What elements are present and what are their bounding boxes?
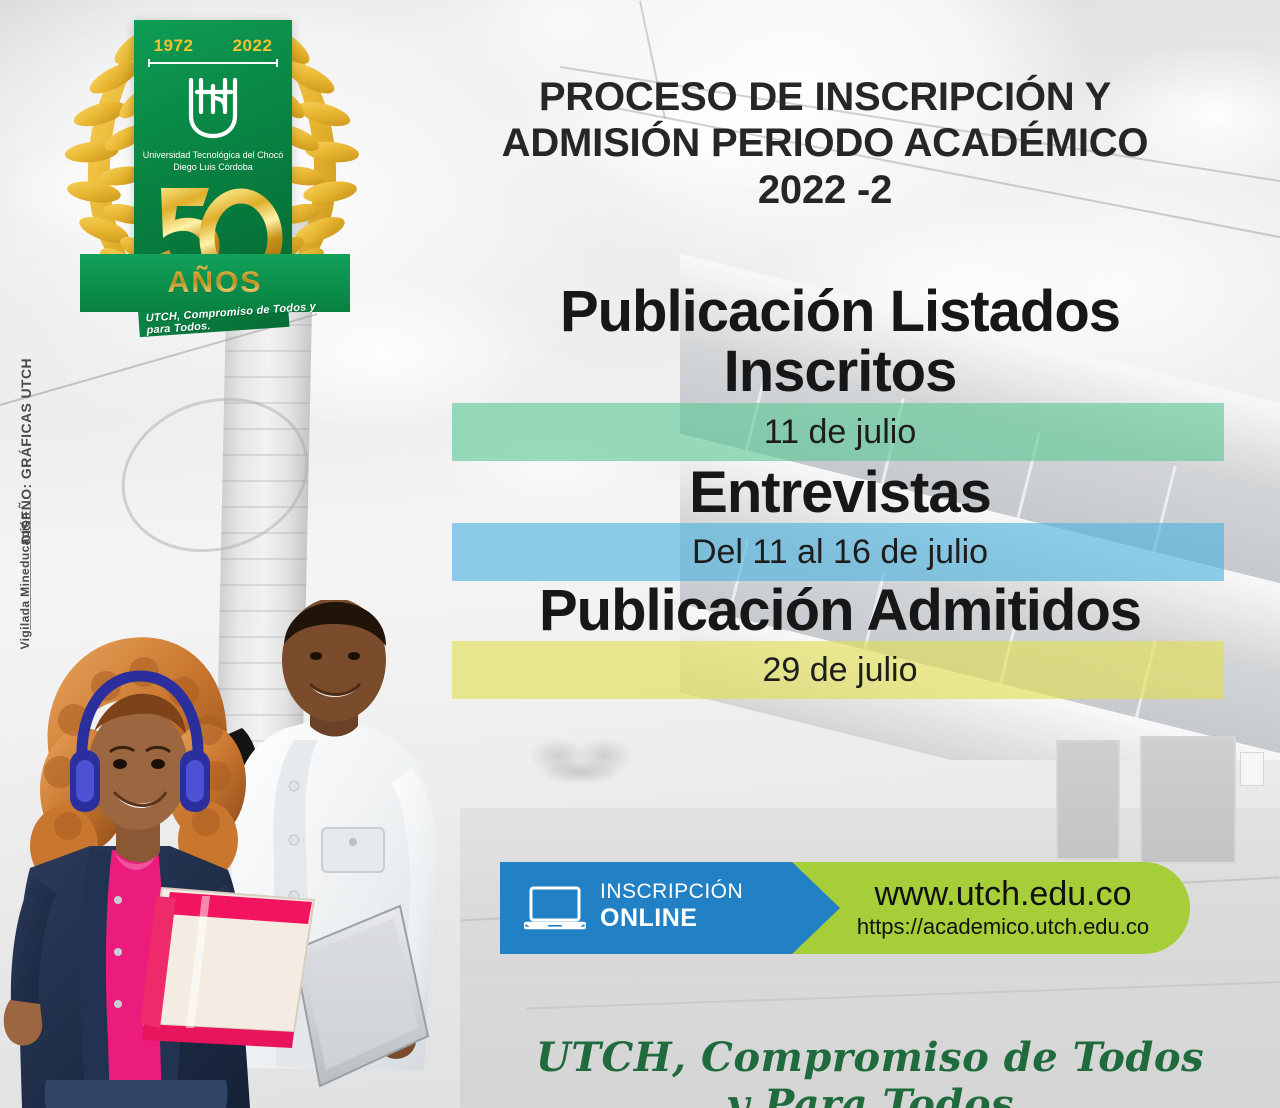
schedule-item-title: Publicación Listados [440, 282, 1240, 342]
schedule-item-title: Publicación Admitidos [440, 581, 1240, 641]
logo-university-line2: Diego Luis Córdoba [138, 162, 288, 174]
schedule-item-date: 29 de julio [440, 641, 1240, 699]
headline-line-1: PROCESO DE INSCRIPCIÓN Y [400, 74, 1250, 120]
schedule-item-date: Del 11 al 16 de julio [440, 523, 1240, 581]
schedule-item-date: 11 de julio [440, 403, 1240, 461]
headline-line-3: 2022 -2 [400, 167, 1250, 213]
banner-label-line1: INSCRIPCIÓN [600, 880, 780, 904]
banner-url-group[interactable]: www.utch.edu.co https://academico.utch.e… [830, 876, 1176, 941]
utch-monogram-icon [175, 72, 251, 144]
logo-university-line1: Universidad Tecnológica del Chocó [138, 150, 288, 162]
laptop-icon [524, 886, 586, 932]
schedule-block: Publicación Listados Inscritos 11 de jul… [440, 282, 1240, 699]
academic-portal-url[interactable]: https://academico.utch.edu.co [830, 913, 1176, 941]
logo-year-start: 1972 [154, 36, 194, 56]
online-registration-banner[interactable]: INSCRIPCIÓN ONLINE www.utch.edu.co https… [500, 862, 1190, 954]
schedule-item-date-row: 29 de julio [440, 641, 1240, 699]
logo-year-range: 1972 2022 [134, 36, 292, 56]
logo-green-plate: 1972 2022 Universidad Tecnológica del Ch… [134, 20, 292, 286]
admissions-poster: DISEÑO: GRÁFICAS UTCH Vigilada Mineducac… [0, 0, 1280, 1108]
banner-label-line2: ONLINE [600, 904, 780, 932]
utch-50-years-logo: 1972 2022 Universidad Tecnológica del Ch… [62, 6, 362, 356]
banner-label-group: INSCRIPCIÓN ONLINE [600, 880, 780, 932]
footer-tagline: UTCH, Compromiso de Todos y Para Todos [520, 1034, 1220, 1108]
schedule-item-date-row: 11 de julio [440, 403, 1240, 461]
schedule-item-date-row: Del 11 al 16 de julio [440, 523, 1240, 581]
website-url[interactable]: www.utch.edu.co [830, 876, 1176, 913]
schedule-item-title-line2: Inscritos [440, 342, 1240, 402]
logo-year-end: 2022 [233, 36, 273, 56]
schedule-item-title: Entrevistas [440, 463, 1240, 523]
logo-university-name: Universidad Tecnológica del Chocó Diego … [138, 150, 288, 173]
logo-year-rule [148, 62, 278, 64]
students-photo [0, 600, 474, 1108]
headline-line-2: ADMISIÓN PERIODO ACADÉMICO [400, 120, 1250, 166]
poster-headline: PROCESO DE INSCRIPCIÓN Y ADMISIÓN PERIOD… [400, 74, 1250, 213]
